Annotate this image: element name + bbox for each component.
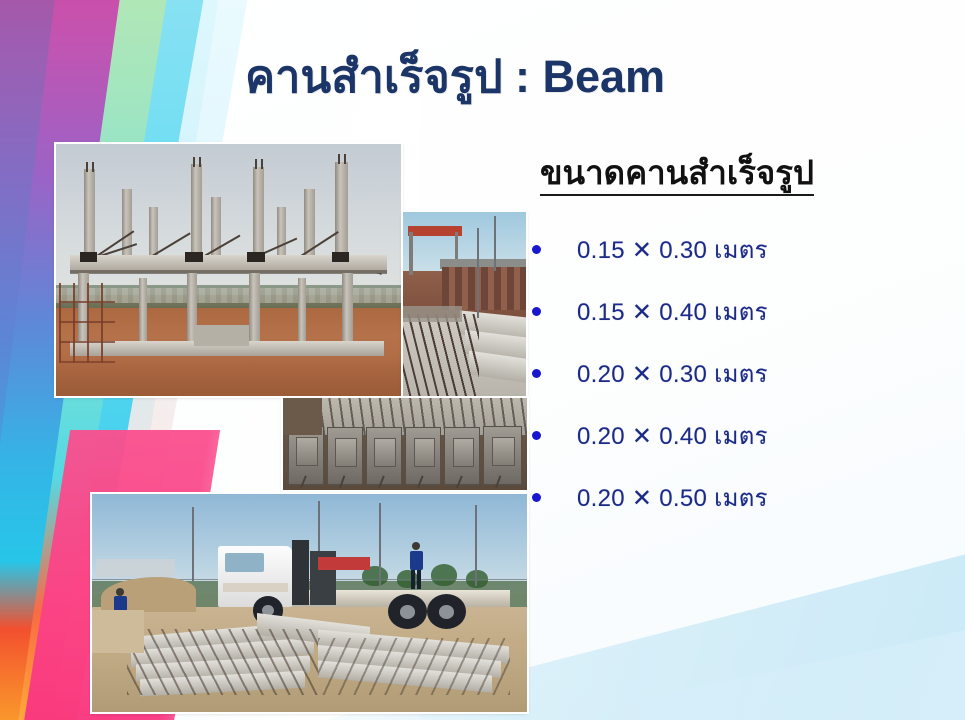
list-item: 0.20 ✕ 0.50 เมตร (532, 466, 952, 528)
photo-casting-yard (403, 212, 526, 408)
bullet-dot-icon (532, 307, 541, 316)
beam-size-label: 0.20 ✕ 0.50 เมตร (577, 478, 768, 517)
beam-size-list: 0.15 ✕ 0.30 เมตร 0.15 ✕ 0.40 เมตร 0.20 ✕… (532, 218, 952, 528)
bullet-dot-icon (532, 245, 541, 254)
bullet-dot-icon (532, 431, 541, 440)
photo-precast-frame (56, 144, 401, 396)
page-title: คานสำเร็จรูป : Beam (245, 52, 885, 102)
beam-size-label: 0.20 ✕ 0.30 เมตร (577, 354, 768, 393)
beam-size-label: 0.15 ✕ 0.30 เมตร (577, 230, 768, 269)
section-heading: ขนาดคานสำเร็จรูป (540, 152, 814, 196)
bullet-dot-icon (532, 493, 541, 502)
beam-size-label: 0.20 ✕ 0.40 เมตร (577, 416, 768, 455)
list-item: 0.20 ✕ 0.40 เมตร (532, 404, 952, 466)
bullet-dot-icon (532, 369, 541, 378)
slide-canvas: คานสำเร็จรูป : Beam (0, 0, 965, 720)
list-item: 0.20 ✕ 0.30 เมตร (532, 342, 952, 404)
photo-truck-delivery (92, 494, 527, 712)
beam-size-label: 0.15 ✕ 0.40 เมตร (577, 292, 768, 331)
photo-beam-ends (283, 398, 527, 490)
list-item: 0.15 ✕ 0.40 เมตร (532, 280, 952, 342)
list-item: 0.15 ✕ 0.30 เมตร (532, 218, 952, 280)
